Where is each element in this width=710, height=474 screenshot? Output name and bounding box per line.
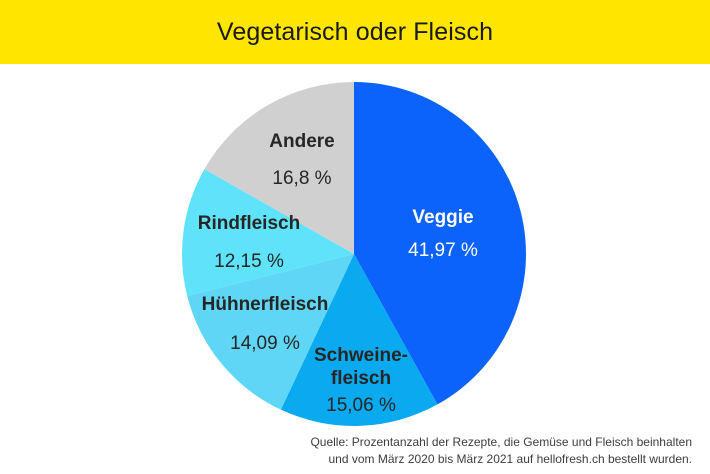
slice-label-huehnerfleisch-value: 14,09 % bbox=[230, 333, 300, 354]
source-note: Quelle: Prozentanzahl der Rezepte, die G… bbox=[0, 434, 702, 468]
source-line-2: und vom März 2020 bis März 2021 auf hell… bbox=[0, 451, 692, 468]
title-banner: Vegetarisch oder Fleisch bbox=[0, 0, 710, 64]
slice-label-rindfleisch-value: 12,15 % bbox=[214, 251, 284, 272]
page-title: Vegetarisch oder Fleisch bbox=[217, 20, 493, 45]
slice-label-schweinefleisch-name-line1: Schweine- bbox=[314, 345, 408, 366]
slice-label-schweinefleisch-name-line2: fleisch bbox=[331, 368, 391, 389]
chart-area: Veggie 41,97 % Schweine- fleisch 15,06 %… bbox=[0, 64, 710, 432]
slice-label-rindfleisch-name: Rindfleisch bbox=[198, 213, 300, 234]
slice-label-veggie-name: Veggie bbox=[412, 207, 473, 228]
pie-chart: Veggie 41,97 % Schweine- fleisch 15,06 %… bbox=[0, 64, 710, 432]
infographic-root: Vegetarisch oder Fleisch Veggie 41,97 % … bbox=[0, 0, 710, 474]
slice-label-andere-value: 16,8 % bbox=[272, 168, 331, 189]
slice-label-huehnerfleisch-name: Hühnerfleisch bbox=[202, 294, 329, 315]
source-line-1: Quelle: Prozentanzahl der Rezepte, die G… bbox=[0, 434, 692, 451]
slice-label-andere-name: Andere bbox=[269, 131, 334, 152]
slice-label-veggie-value: 41,97 % bbox=[408, 240, 478, 261]
slice-label-schweinefleisch-value: 15,06 % bbox=[326, 395, 396, 416]
